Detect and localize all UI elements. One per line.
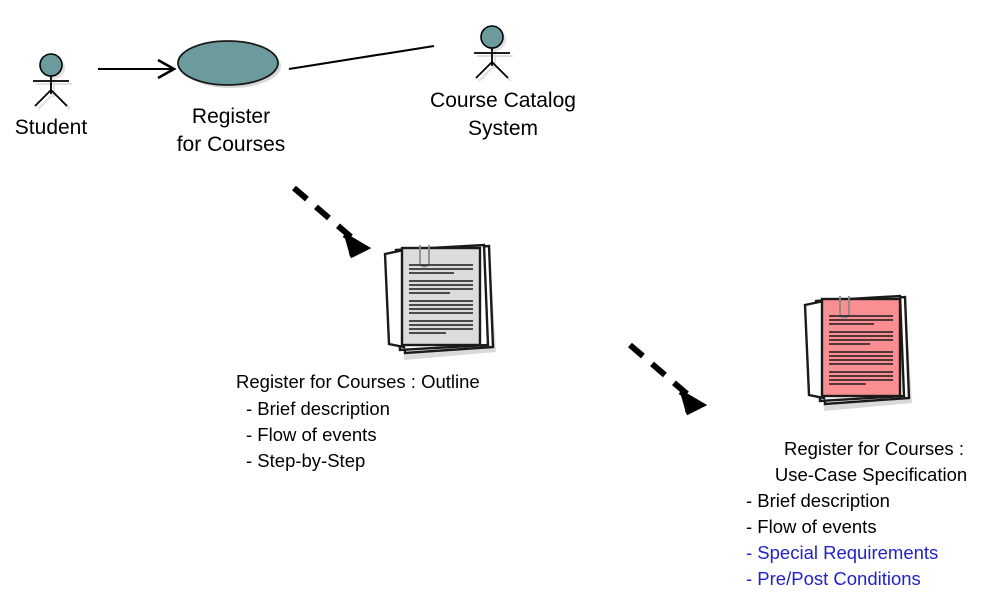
document-outline-item-2: - Step-by-Step — [246, 452, 365, 471]
use-case-register-for-courses[interactable] — [178, 41, 281, 88]
document-spec-item-1: - Flow of events — [746, 518, 877, 537]
document-spec-item-3: - Pre/Post Conditions — [746, 570, 921, 589]
document-outline-document[interactable] — [385, 245, 496, 360]
actor-label-catalog-line2: System — [468, 118, 538, 139]
document-spec-item-2: - Special Requirements — [746, 544, 938, 563]
connector-outline-to-spec — [630, 345, 702, 413]
stick-figure-actor-icon — [33, 54, 69, 106]
document-outline-item-1: - Flow of events — [246, 426, 377, 445]
document-spec-title-line2: Use-Case Specification — [775, 466, 967, 485]
connector-usecase-to-catalog — [289, 46, 434, 69]
document-outline-item-0: - Brief description — [246, 400, 390, 419]
document-outline-title: Register for Courses : Outline — [236, 373, 480, 392]
connector-usecase-to-outline — [294, 188, 366, 256]
actor-label-catalog-line1: Course Catalog — [430, 90, 576, 111]
actor-course-catalog-system[interactable] — [474, 26, 513, 81]
actor-student[interactable] — [33, 54, 72, 109]
stick-figure-actor-icon — [474, 26, 510, 78]
use-case-label-line2: for Courses — [177, 134, 286, 155]
use-case-label-line1: Register — [192, 106, 270, 127]
document-specification-document[interactable] — [805, 296, 912, 411]
actor-label-student: Student — [15, 117, 87, 138]
document-spec-item-0: - Brief description — [746, 492, 890, 511]
connector-student-to-usecase — [98, 60, 174, 78]
document-spec-title-line1: Register for Courses : — [784, 440, 964, 459]
